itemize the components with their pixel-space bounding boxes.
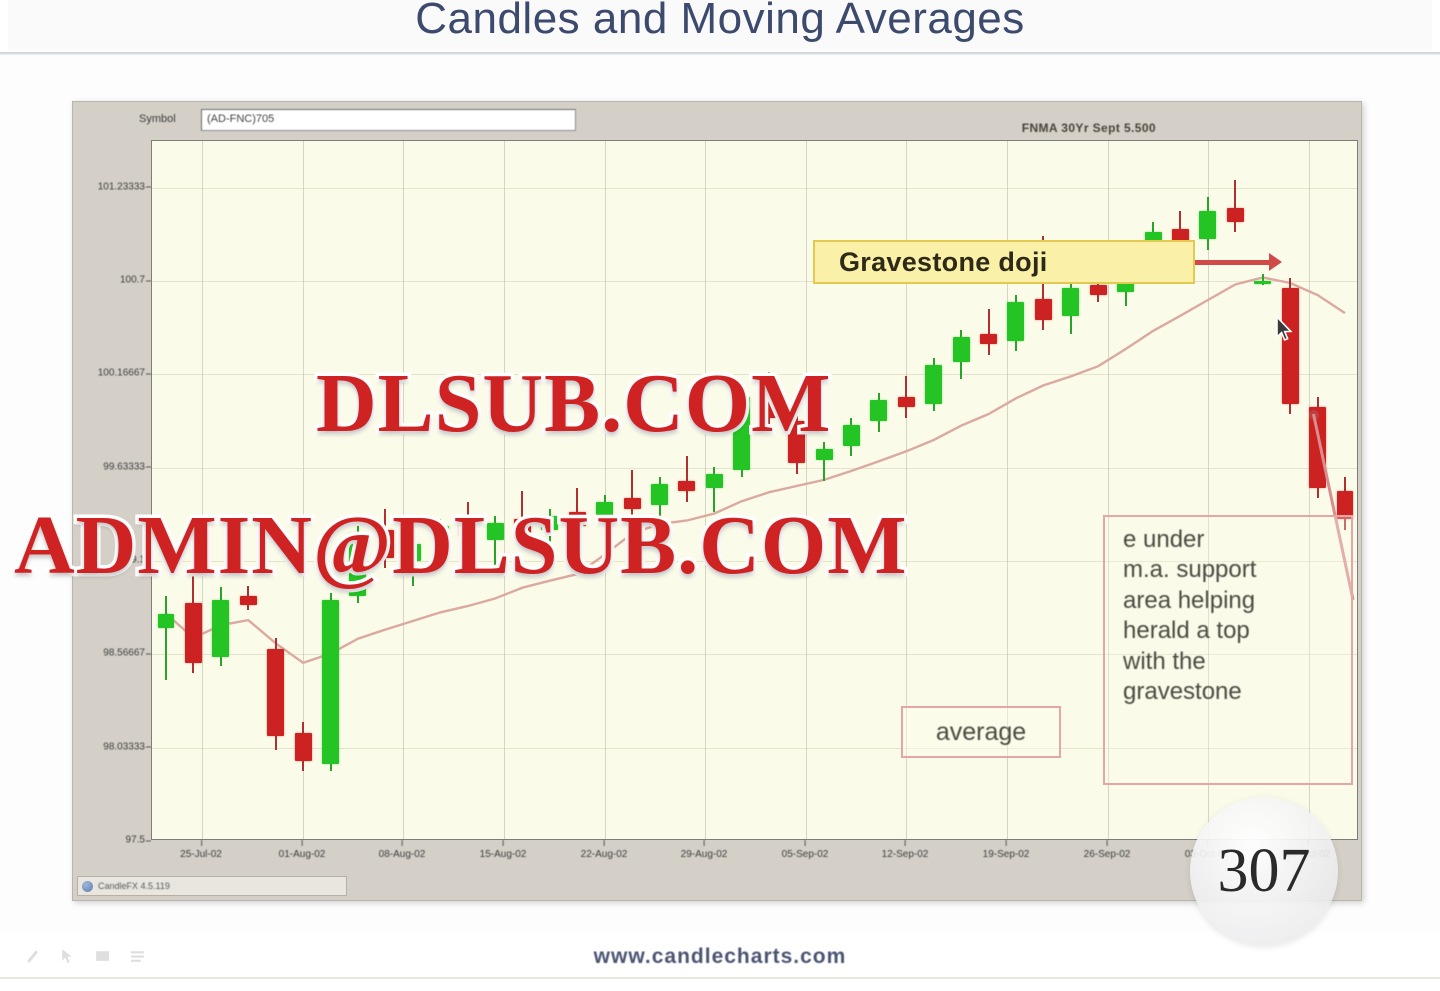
y-axis-tick-label: 100.7	[120, 275, 145, 286]
info-icon	[82, 881, 93, 892]
y-axis-tick-label: 97.5	[126, 835, 145, 846]
support-annotation-line: area helping	[1123, 586, 1351, 616]
gravestone-doji-callout-label: Gravestone doji	[839, 247, 1048, 278]
x-axis-tick-label: 05-Sep-02	[782, 849, 829, 860]
candle-body	[678, 481, 695, 492]
candle-body	[1090, 285, 1107, 296]
average-annotation-box: average	[901, 706, 1061, 758]
x-axis-tick-label: 26-Sep-02	[1084, 849, 1131, 860]
y-axis-tick-label: 101.23333	[98, 181, 145, 192]
candle-wick	[988, 309, 990, 355]
status-bar-label: CandleFX 4.5.119	[98, 881, 170, 891]
title-divider	[0, 52, 1440, 55]
y-axis-tick-label: 99.63333	[103, 461, 145, 472]
gravestone-doji-callout: Gravestone doji	[813, 240, 1195, 284]
title-band: Candles and Moving Averages	[0, 0, 1440, 50]
candle-body	[1062, 288, 1079, 316]
y-axis-tick-label: 100.16667	[98, 368, 145, 379]
x-axis-tick-label: 01-Aug-02	[279, 849, 326, 860]
candle-body	[1035, 299, 1052, 320]
slide-footer: www.candlecharts.com	[0, 931, 1440, 991]
candle-body	[843, 425, 860, 446]
candle-body	[953, 337, 970, 362]
y-axis-tick-label: 98.56667	[103, 648, 145, 659]
y-axis: 101.23333100.7100.1666799.6333399.198.56…	[73, 140, 151, 840]
y-axis-tick-label: 98.03333	[103, 741, 145, 752]
x-axis-tick-label: 25-Jul-02	[180, 849, 222, 860]
candle-body	[1199, 211, 1216, 239]
candle-body	[240, 596, 257, 605]
candle-body	[322, 600, 339, 765]
x-axis-tick-label: 29-Aug-02	[681, 849, 728, 860]
page-title: Candles and Moving Averages	[0, 0, 1440, 44]
symbol-input[interactable]: (AD-FNC)705	[201, 109, 576, 131]
candle-body	[1007, 302, 1024, 341]
support-annotation-line: gravestone	[1123, 677, 1351, 707]
footer-divider	[0, 977, 1440, 979]
candle-body	[212, 600, 229, 658]
x-axis-tick-label: 19-Sep-02	[983, 849, 1030, 860]
candle-body	[1254, 281, 1271, 284]
support-annotation-line: herald a top	[1123, 616, 1351, 646]
candle-body	[267, 649, 284, 737]
candle-body	[706, 474, 723, 488]
support-annotation-line: with the	[1123, 647, 1351, 677]
page-number: 307	[1218, 836, 1311, 907]
title-right-cap	[1432, 0, 1440, 55]
candle-body	[980, 334, 997, 345]
candle-body	[295, 733, 312, 761]
presentation-slide: Candles and Moving Averages Symbol (AD-F…	[0, 0, 1440, 991]
title-left-cap	[0, 0, 8, 55]
callout-arrow-line	[1195, 260, 1277, 265]
symbol-label: Symbol	[139, 113, 176, 125]
watermark-line-1: DLSUB.COM	[316, 355, 831, 452]
x-axis: 25-Jul-0201-Aug-0208-Aug-0215-Aug-0222-A…	[151, 841, 1358, 871]
support-annotation-line: m.a. support	[1123, 555, 1351, 585]
x-axis-tick-label: 08-Aug-02	[379, 849, 426, 860]
candle-body	[1227, 208, 1244, 222]
candle-body	[185, 603, 202, 663]
x-axis-tick-label: 22-Aug-02	[581, 849, 628, 860]
footer-url: www.candlecharts.com	[0, 945, 1440, 969]
candle-body	[925, 365, 942, 404]
candle-body	[1282, 288, 1299, 404]
candle-wick	[165, 596, 167, 680]
x-axis-tick-label: 12-Sep-02	[882, 849, 929, 860]
callout-arrow-head-icon	[1269, 253, 1282, 271]
candle-body	[870, 400, 887, 421]
status-bar: CandleFX 4.5.119	[77, 876, 347, 896]
support-annotation-box: e underm.a. supportarea helpingherald a …	[1103, 515, 1353, 785]
average-annotation-label: average	[936, 718, 1026, 747]
mouse-pointer-icon	[1276, 316, 1293, 342]
candle-body	[898, 397, 915, 408]
x-axis-tick-label: 15-Aug-02	[480, 849, 527, 860]
candle-wick	[1234, 180, 1236, 233]
page-number-badge: 307	[1190, 797, 1338, 945]
instrument-caption: FNMA 30Yr Sept 5.500	[1022, 121, 1156, 135]
candle-body	[158, 614, 175, 628]
candle-wick	[686, 456, 688, 502]
watermark-line-2: ADMIN@DLSUB.COM	[14, 497, 907, 594]
support-annotation-line: e under	[1123, 525, 1351, 555]
symbol-toolbar: Symbol (AD-FNC)705 FNMA 30Yr Sept 5.500	[73, 102, 1361, 138]
